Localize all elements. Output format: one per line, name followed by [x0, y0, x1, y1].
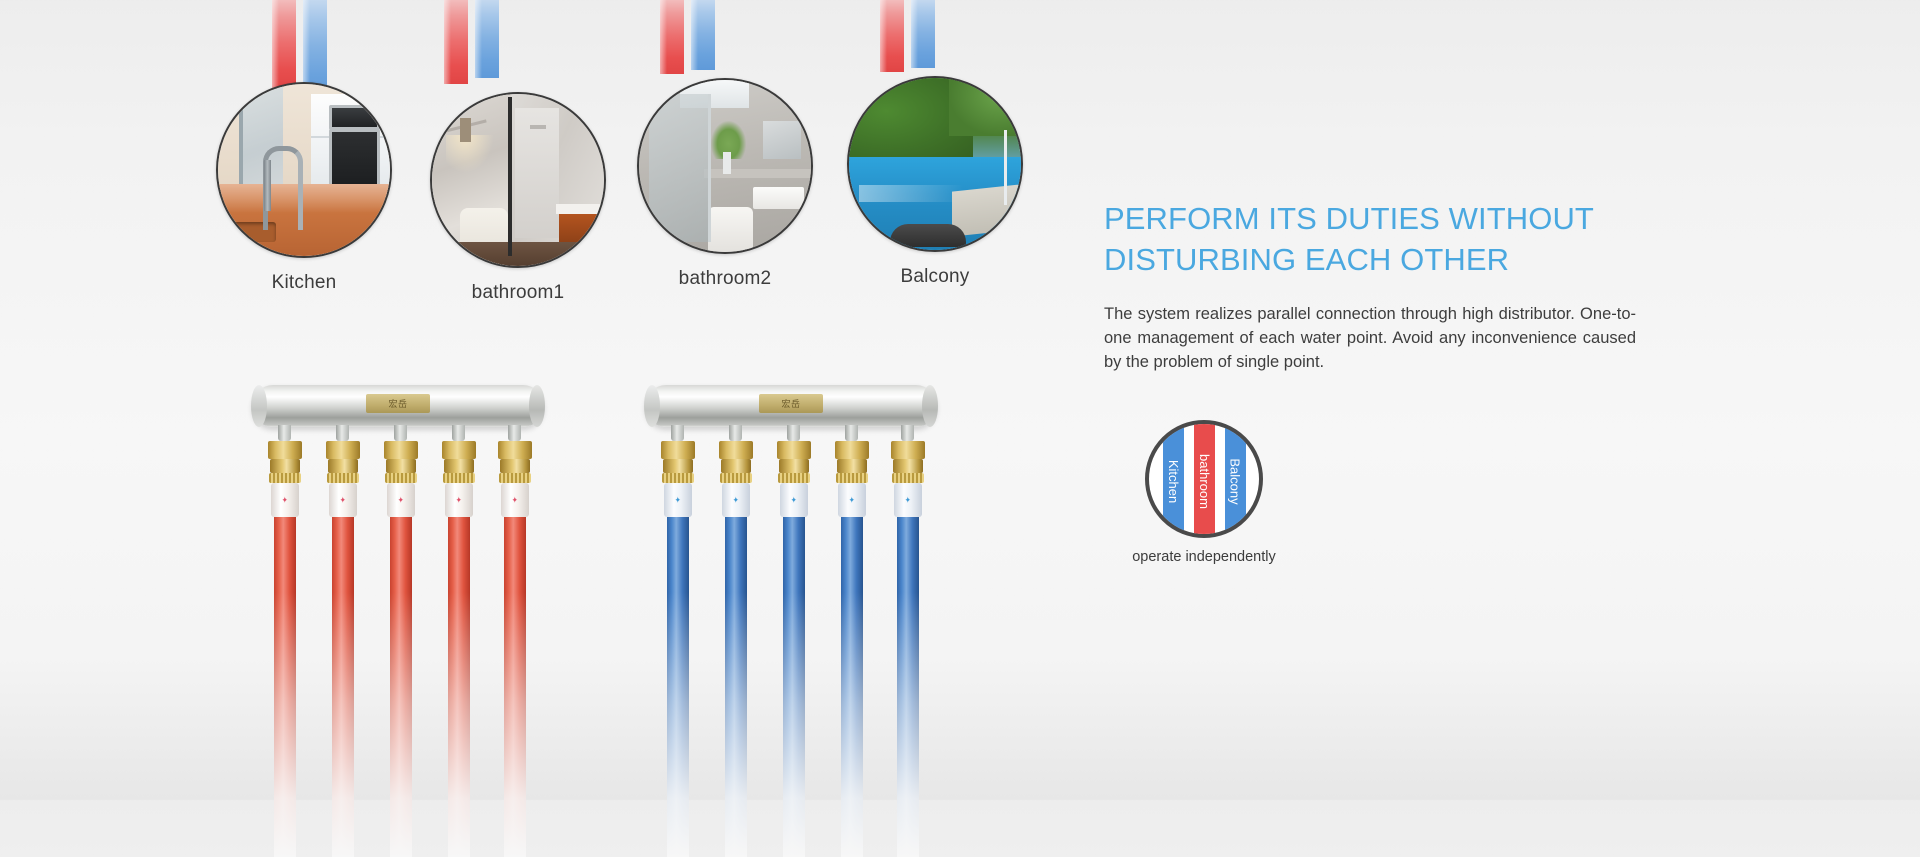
hot-water-ribbon-bathroom1	[444, 0, 468, 84]
outlet-riser: ✦ PP-R 宏岳1+ S2.5 20×2.8mm	[326, 441, 360, 857]
brass-nut-lower-icon	[721, 459, 751, 473]
pipe-socket: ✦	[329, 483, 357, 517]
badge-ring: Kitchen bathroom Balcony	[1145, 420, 1263, 538]
socket-logo-icon: ✦	[512, 495, 518, 506]
room-balcony[interactable]: Balcony	[847, 76, 1023, 288]
socket-logo-icon: ✦	[791, 495, 797, 506]
badge-stripe-kitchen: Kitchen	[1163, 420, 1184, 538]
brass-nut-icon	[326, 441, 360, 459]
room-kitchen[interactable]: Kitchen	[216, 82, 392, 294]
outlet-riser: ✦ PP-R 宏岳1+ S2.5 20×2.8mm	[719, 441, 753, 857]
socket-logo-icon: ✦	[398, 495, 404, 506]
hot-pipe: PP-R 宏岳1+ S2.5 20×2.8mm	[332, 517, 354, 857]
brass-nut-lower-icon	[663, 459, 693, 473]
socket-logo-icon: ✦	[849, 495, 855, 506]
copy-block: PERFORM ITS DUTIES WITHOUT DISTURBING EA…	[1104, 198, 1636, 374]
manifold-bar: 宏岳	[645, 385, 937, 427]
pipe-socket: ✦	[271, 483, 299, 517]
bathroom1-photo	[430, 92, 606, 268]
cold-water-ribbon-balcony	[911, 0, 935, 68]
brass-collar-icon	[327, 473, 359, 483]
pipe-socket: ✦	[664, 483, 692, 517]
brass-nut-lower-icon	[444, 459, 474, 473]
brass-nut-icon	[719, 441, 753, 459]
badge-caption: operate independently	[1104, 549, 1304, 565]
outlet-riser: ✦ PP-R 宏岳1+ S2.5 20×2.8mm	[442, 441, 476, 857]
manifold-end-cap-left	[644, 385, 660, 427]
room-label-bathroom2: bathroom2	[637, 268, 813, 290]
cold-pipe: PP-R 宏岳1+ S2.5 20×2.8mm	[667, 517, 689, 857]
cold-pipe: PP-R 宏岳1+ S2.5 20×2.8mm	[897, 517, 919, 857]
brass-collar-icon	[892, 473, 924, 483]
brass-collar-icon	[836, 473, 868, 483]
brass-nut-lower-icon	[328, 459, 358, 473]
manifold-brand-label: 宏岳	[366, 394, 430, 413]
brass-nut-lower-icon	[837, 459, 867, 473]
cold-water-ribbon-bathroom2	[691, 0, 715, 70]
socket-logo-icon: ✦	[905, 495, 911, 506]
pipe-socket: ✦	[501, 483, 529, 517]
bathroom2-photo	[637, 78, 813, 254]
brass-nut-lower-icon	[779, 459, 809, 473]
hot-water-ribbon-kitchen	[272, 0, 296, 88]
brass-nut-icon	[661, 441, 695, 459]
body-paragraph: The system realizes parallel connection …	[1104, 302, 1636, 374]
manifold-end-cap-left	[251, 385, 267, 427]
brass-collar-icon	[662, 473, 694, 483]
pipe-socket: ✦	[445, 483, 473, 517]
operate-independently-badge: Kitchen bathroom Balcony operate indepen…	[1104, 420, 1304, 565]
outlet-riser: ✦ PP-R 宏岳1+ S2.5 20×2.8mm	[498, 441, 532, 857]
socket-logo-icon: ✦	[733, 495, 739, 506]
outlet-riser: ✦ PP-R 宏岳1+ S2.5 20×2.8mm	[384, 441, 418, 857]
pipe-socket: ✦	[780, 483, 808, 517]
room-label-bathroom1: bathroom1	[430, 282, 606, 304]
brass-nut-icon	[442, 441, 476, 459]
brass-nut-lower-icon	[500, 459, 530, 473]
badge-stripe-label: Balcony	[1228, 458, 1243, 504]
manifold-brand-label: 宏岳	[759, 394, 823, 413]
cold-pipe: PP-R 宏岳1+ S2.5 20×2.8mm	[783, 517, 805, 857]
room-bathroom1[interactable]: bathroom1	[430, 92, 606, 304]
hot-pipe: PP-R 宏岳1+ S2.5 20×2.8mm	[390, 517, 412, 857]
badge-stripe-balcony: Balcony	[1225, 420, 1246, 538]
brass-nut-icon	[777, 441, 811, 459]
cold-pipe: PP-R 宏岳1+ S2.5 20×2.8mm	[841, 517, 863, 857]
kitchen-photo	[216, 82, 392, 258]
brass-nut-lower-icon	[893, 459, 923, 473]
headline: PERFORM ITS DUTIES WITHOUT DISTURBING EA…	[1104, 198, 1636, 280]
hero-banner: Kitchen bathroom1 bathroom2	[0, 0, 1920, 800]
socket-logo-icon: ✦	[456, 495, 462, 506]
brass-collar-icon	[385, 473, 417, 483]
badge-stripe-bathroom: bathroom	[1194, 420, 1215, 538]
outlet-riser: ✦ PP-R 宏岳1+ S2.5 20×2.8mm	[835, 441, 869, 857]
manifold-end-cap-right	[529, 385, 545, 427]
balcony-photo	[847, 76, 1023, 252]
manifold-end-cap-right	[922, 385, 938, 427]
brass-nut-icon	[891, 441, 925, 459]
brass-nut-icon	[268, 441, 302, 459]
pipe-socket: ✦	[838, 483, 866, 517]
socket-logo-icon: ✦	[340, 495, 346, 506]
cold-water-ribbon-bathroom1	[475, 0, 499, 78]
brass-nut-icon	[384, 441, 418, 459]
pipe-socket: ✦	[387, 483, 415, 517]
brass-nut-lower-icon	[270, 459, 300, 473]
cold-pipe: PP-R 宏岳1+ S2.5 20×2.8mm	[725, 517, 747, 857]
socket-logo-icon: ✦	[282, 495, 288, 506]
badge-stripe-label: Kitchen	[1166, 459, 1181, 502]
brass-nut-lower-icon	[386, 459, 416, 473]
room-bathroom2[interactable]: bathroom2	[637, 78, 813, 290]
outlet-riser: ✦ PP-R 宏岳1+ S2.5 20×2.8mm	[661, 441, 695, 857]
badge-stripe-label: bathroom	[1197, 454, 1212, 509]
pipe-socket: ✦	[894, 483, 922, 517]
outlet-riser: ✦ PP-R 宏岳1+ S2.5 20×2.8mm	[268, 441, 302, 857]
cold-water-manifold: 宏岳 ✦ PP-R 宏岳1+ S2.5 20×2.8mm ✦	[645, 385, 937, 427]
brass-collar-icon	[443, 473, 475, 483]
manifold-bar: 宏岳	[252, 385, 544, 427]
outlet-riser: ✦ PP-R 宏岳1+ S2.5 20×2.8mm	[891, 441, 925, 857]
brass-collar-icon	[499, 473, 531, 483]
hot-pipe: PP-R 宏岳1+ S2.5 20×2.8mm	[274, 517, 296, 857]
hot-pipe: PP-R 宏岳1+ S2.5 20×2.8mm	[448, 517, 470, 857]
socket-logo-icon: ✦	[675, 495, 681, 506]
room-label-kitchen: Kitchen	[216, 272, 392, 294]
brass-collar-icon	[778, 473, 810, 483]
brass-nut-icon	[835, 441, 869, 459]
brass-collar-icon	[269, 473, 301, 483]
room-label-balcony: Balcony	[847, 266, 1023, 288]
brass-nut-icon	[498, 441, 532, 459]
outlet-riser: ✦ PP-R 宏岳1+ S2.5 20×2.8mm	[777, 441, 811, 857]
brass-collar-icon	[720, 473, 752, 483]
hot-water-ribbon-balcony	[880, 0, 904, 72]
hot-pipe: PP-R 宏岳1+ S2.5 20×2.8mm	[504, 517, 526, 857]
hot-water-ribbon-bathroom2	[660, 0, 684, 74]
hot-water-manifold: 宏岳 ✦ PP-R 宏岳1+ S2.5 20×2.8mm ✦	[252, 385, 544, 427]
pipe-socket: ✦	[722, 483, 750, 517]
